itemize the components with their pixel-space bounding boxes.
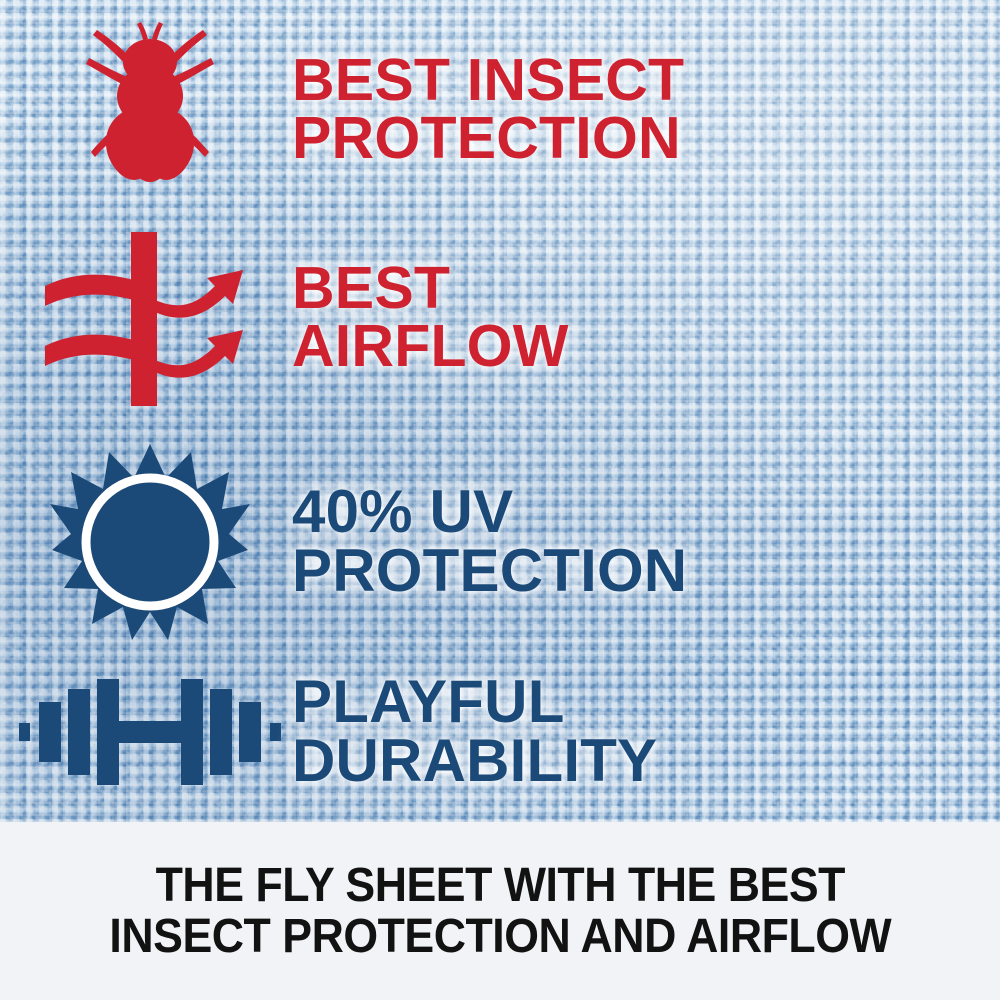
sun-uv-icon — [50, 442, 250, 642]
feature-row-durability: PLAYFUL DURABILITY — [0, 652, 1000, 812]
feature-row-insect-protection: BEST INSECT PROTECTION — [0, 10, 1000, 210]
feature-label-insect-protection: BEST INSECT PROTECTION — [292, 52, 1000, 168]
dumbbell-icon — [19, 671, 281, 793]
feature-label-uv-protection: 40% UV PROTECTION — [292, 483, 1000, 601]
caption-bar: THE FLY SHEET WITH THE BEST INSECT PROTE… — [0, 822, 1000, 1000]
feature-icon-slot — [0, 652, 300, 812]
feature-icon-slot — [0, 218, 300, 418]
infographic-poster: BEST INSECT PROTECTION — [0, 0, 1000, 1000]
feature-label-airflow: BEST AIRFLOW — [292, 260, 1000, 376]
feature-label-durability: PLAYFUL DURABILITY — [292, 673, 1000, 791]
caption-text: THE FLY SHEET WITH THE BEST INSECT PROTE… — [92, 860, 907, 963]
feature-row-airflow: BEST AIRFLOW — [0, 218, 1000, 418]
airflow-icon — [43, 228, 258, 408]
feature-icon-slot — [0, 434, 300, 650]
feature-row-uv-protection: 40% UV PROTECTION — [0, 434, 1000, 650]
feature-icon-slot — [0, 10, 300, 210]
feature-list: BEST INSECT PROTECTION — [0, 0, 1000, 822]
fly-icon — [75, 18, 225, 203]
